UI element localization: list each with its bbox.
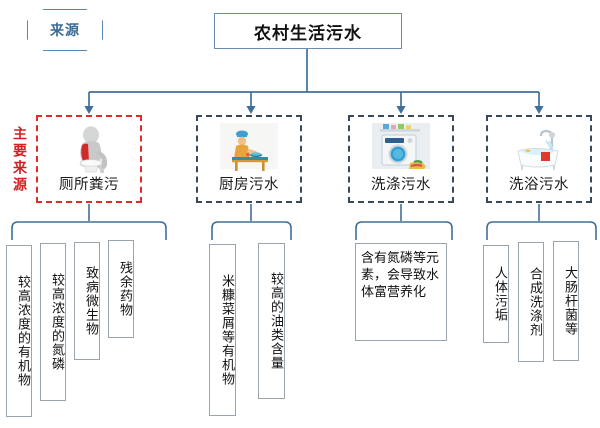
detail-box: 较高浓度的有机物: [6, 245, 32, 417]
connector-lines: [0, 0, 600, 428]
detail-box: 残余药物: [108, 240, 134, 338]
detail-box: 合成洗涤剂: [518, 242, 544, 362]
category-card-bath[interactable]: 洗浴污水: [486, 115, 592, 203]
category-card-toilet[interactable]: 厕所粪污: [36, 115, 142, 203]
bathtub-shower-icon: [508, 121, 570, 175]
detail-box: 含有氮磷等元素，会导致水体富营养化: [355, 243, 447, 341]
diagram-title: 农村生活污水: [214, 13, 402, 49]
detail-box: 米糠菜屑等有机物: [209, 244, 236, 416]
source-tag-label: 来源: [28, 10, 102, 50]
toilet-icon: [58, 121, 120, 175]
detail-box: 较高浓度的氮磷: [40, 243, 66, 401]
source-tag: 来源: [27, 9, 103, 51]
category-label: 厕所粪污: [59, 176, 119, 194]
category-label: 洗浴污水: [509, 176, 569, 194]
detail-box: 致病微生物: [74, 242, 100, 360]
category-card-kitchen[interactable]: 厨房污水: [196, 115, 302, 203]
diagram-title-label: 农村生活污水: [254, 19, 362, 44]
detail-box: 较高的油类含量: [258, 243, 285, 399]
category-label: 厨房污水: [219, 176, 279, 194]
main-source-label: 主要来源: [8, 114, 30, 206]
detail-box: 大肠杆菌等: [553, 241, 579, 361]
detail-box: 人体污垢: [483, 245, 509, 343]
diagram-canvas: 来源 农村生活污水 主要来源 厕所粪污: [0, 0, 600, 428]
category-label: 洗涤污水: [371, 176, 431, 194]
category-card-washing[interactable]: 洗涤污水: [348, 115, 454, 203]
kitchen-cook-icon: [218, 121, 280, 175]
washing-machine-icon: [370, 121, 432, 175]
